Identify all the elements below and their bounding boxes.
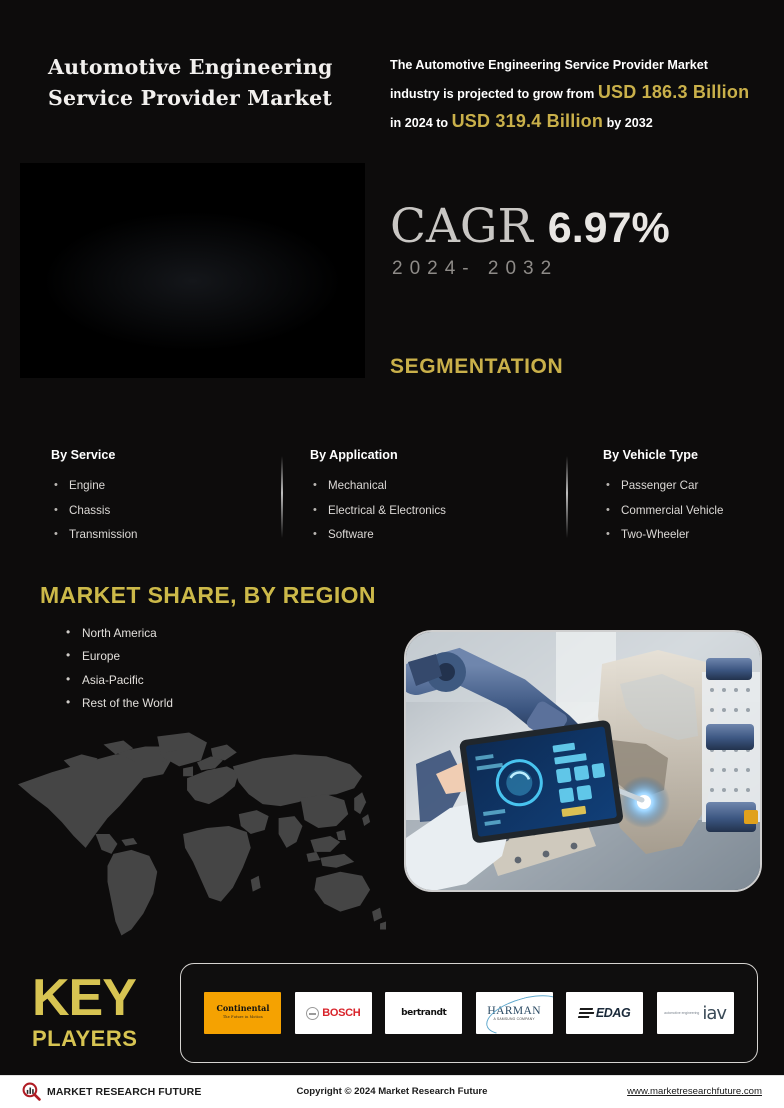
logo-harman: HARMAN A SAMSUNG COMPANY (476, 992, 553, 1034)
segmentation-columns: By Service Engine Chassis Transmission B… (40, 448, 764, 548)
list-item: Two-Wheeler (603, 523, 784, 548)
logo-iav: automotive engineering iav (657, 992, 734, 1034)
edag-bars-icon (578, 1008, 595, 1018)
infographic-page: Automotive Engineering Service Provider … (0, 0, 784, 1108)
segment-title-by-application: By Application (310, 448, 530, 462)
page-title: Automotive Engineering Service Provider … (48, 52, 378, 114)
cagr-label: CAGR (390, 199, 533, 254)
world-map-icon (12, 722, 390, 940)
logo-edag: EDAG (566, 992, 643, 1034)
cagr-period: 2024- 2032 (392, 258, 558, 280)
segment-list-by-vehicle-type: Passenger Car Commercial Vehicle Two-Whe… (603, 474, 784, 548)
logo-bosch-name: BOSCH (322, 1007, 360, 1019)
stat-mid-text: in 2024 (390, 116, 433, 130)
market-share-region-list: North America Europe Asia-Pacific Rest o… (62, 622, 173, 715)
segment-title-by-vehicle-type: By Vehicle Type (603, 448, 784, 462)
logo-bosch: BOSCH (295, 992, 372, 1034)
list-item: Rest of the World (62, 692, 173, 715)
footer-website-link[interactable]: www.marketresearchfuture.com (627, 1086, 762, 1097)
segmentation-divider-1 (281, 456, 283, 538)
key-players-logo-row: Continental The Future in Motion BOSCH b… (181, 964, 757, 1062)
segmentation-column-by-vehicle-type: By Vehicle Type Passenger Car Commercial… (603, 448, 784, 548)
list-item: Transmission (51, 523, 251, 548)
logo-continental-name: Continental (216, 1003, 269, 1013)
list-item: Asia-Pacific (62, 669, 173, 692)
hero-image-car-assembly (20, 163, 365, 378)
logo-continental-tagline: The Future in Motion (216, 1013, 269, 1022)
segmentation-divider-2 (566, 456, 568, 538)
stat-value-2032: USD 319.4 Billion (452, 111, 603, 131)
segmentation-column-by-service: By Service Engine Chassis Transmission (51, 448, 251, 548)
segmentation-column-by-application: By Application Mechanical Electrical & E… (310, 448, 530, 548)
key-players-heading: KEY PLAYERS (32, 972, 172, 1054)
cagr-percent: 6.97% (548, 204, 670, 252)
stat-value-2024: USD 186.3 Billion (598, 82, 749, 102)
list-item: Europe (62, 645, 173, 668)
cagr-value: CAGR 6.97% (390, 198, 670, 257)
logo-continental: Continental The Future in Motion (204, 992, 281, 1034)
segment-title-by-service: By Service (51, 448, 251, 462)
smart-factory-illustration (406, 632, 762, 892)
harman-swoosh-icon (482, 992, 552, 1034)
list-item: Passenger Car (603, 474, 784, 499)
key-players-line2: PLAYERS (32, 1024, 172, 1054)
list-item: Electrical & Electronics (310, 499, 530, 524)
market-stat-paragraph: The Automotive Engineering Service Provi… (390, 52, 758, 137)
hero-backdrop (20, 163, 365, 378)
list-item: Chassis (51, 499, 251, 524)
list-item: North America (62, 622, 173, 645)
key-players-logo-box: Continental The Future in Motion BOSCH b… (180, 963, 758, 1063)
list-item: Commercial Vehicle (603, 499, 784, 524)
market-share-heading: MARKET SHARE, BY REGION (40, 582, 376, 609)
key-players-line1: KEY (32, 972, 172, 1024)
logo-iav-tagline: automotive engineering (664, 1011, 699, 1016)
segment-list-by-application: Mechanical Electrical & Electronics Soft… (310, 474, 530, 548)
world-map (12, 722, 390, 940)
list-item: Mechanical (310, 474, 530, 499)
stat-tail-text: by 2032 (607, 116, 653, 130)
list-item: Engine (51, 474, 251, 499)
footer-bar: MARKET RESEARCH FUTURE Copyright © 2024 … (0, 1075, 784, 1108)
segment-list-by-service: Engine Chassis Transmission (51, 474, 251, 548)
bosch-armature-icon (306, 1007, 319, 1020)
logo-bertrandt-name: bertrandt (401, 1008, 446, 1018)
stat-to-text: to (436, 116, 448, 130)
logo-iav-name: iav (702, 1003, 726, 1024)
engineer-tablet-photo (404, 630, 762, 892)
segmentation-heading: SEGMENTATION (390, 355, 563, 379)
list-item: Software (310, 523, 530, 548)
logo-edag-name: EDAG (596, 1006, 631, 1020)
logo-bertrandt: bertrandt (385, 992, 462, 1034)
